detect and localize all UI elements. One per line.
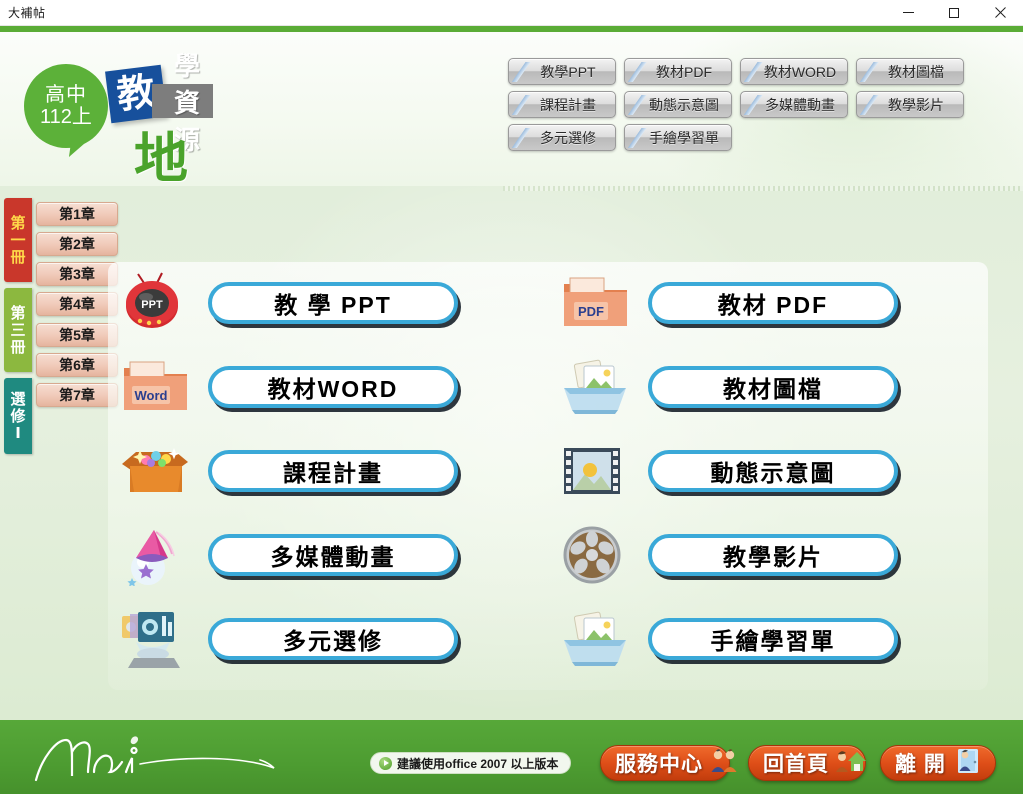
resource-pdf-button[interactable]: 教材 PDF: [648, 282, 898, 324]
page-title: 地理1: [134, 130, 190, 186]
house-icon: [835, 748, 867, 774]
grade-badge-line2: 112上: [40, 106, 92, 128]
house-icon: [835, 748, 867, 779]
film-reel-icon: [556, 524, 638, 586]
svg-text:PDF: PDF: [578, 304, 604, 319]
volume-tab-3[interactable]: 選修Ⅰ: [4, 378, 32, 454]
resource-multimedia-button[interactable]: 多媒體動畫: [208, 534, 458, 576]
resource-video-button[interactable]: 教學影片: [648, 534, 898, 576]
resource-images-label: 教材圖檔: [723, 370, 823, 404]
chapter-button-6[interactable]: 第6章: [36, 353, 118, 377]
resource-word-label: 教材WORD: [268, 370, 399, 404]
resource-images-item: 教材圖檔: [548, 356, 988, 420]
chapter-button-2[interactable]: 第2章: [36, 232, 118, 256]
window-titlebar: 大補帖: [0, 0, 1023, 26]
chip-label: 教材圖檔: [876, 62, 944, 82]
resource-syllabus-label: 課程計畫: [283, 454, 383, 488]
service-center-button[interactable]: 服務中心: [600, 745, 730, 781]
chapter-button-3[interactable]: 第3章: [36, 262, 118, 286]
magic-hat-icon: [116, 524, 198, 586]
chip-label: 教學PPT: [528, 62, 595, 82]
volume-tab-2[interactable]: 第三冊: [4, 288, 32, 372]
exit-button-label: 離 開: [895, 748, 946, 778]
nav-chip-syllabus[interactable]: 課程計畫: [508, 91, 616, 118]
close-button[interactable]: [977, 0, 1023, 26]
projector-icon: [116, 608, 198, 670]
photo-tray-icon: [556, 608, 638, 670]
office-note-text: 建議使用office 2007 以上版本: [397, 755, 558, 772]
home-button[interactable]: 回首頁: [748, 745, 866, 781]
nav-chip-worksheet[interactable]: 手繪學習單: [624, 124, 732, 151]
nav-chip-images[interactable]: 教材圖檔: [856, 58, 964, 85]
chip-label: 動態示意圖: [637, 95, 719, 115]
chip-label: 課程計畫: [528, 95, 596, 115]
resource-band: 學資源: [152, 84, 213, 118]
filmstrip-icon: [556, 440, 638, 502]
resource-ppt-button[interactable]: 教 學 PPT: [208, 282, 458, 324]
photo-tray-icon: [556, 356, 638, 418]
volume-tab-char: 修: [10, 408, 25, 425]
volume-tab-char: 冊: [10, 339, 25, 356]
chapter-button-7[interactable]: 第7章: [36, 383, 118, 407]
resource-elective-item: 多元選修: [108, 608, 548, 672]
nav-chip-elective[interactable]: 多元選修: [508, 124, 616, 151]
people-icon: [709, 748, 739, 779]
minimize-button[interactable]: [885, 0, 931, 26]
chip-label: 教材WORD: [752, 62, 836, 82]
resource-elective-label: 多元選修: [283, 622, 383, 656]
maximize-icon: [949, 8, 959, 18]
chip-label: 教學影片: [876, 95, 944, 115]
chip-label: 多媒體動畫: [753, 95, 835, 115]
nav-chip-multimedia[interactable]: 多媒體動畫: [740, 91, 848, 118]
film-reel-icon: [556, 524, 638, 586]
nav-chip-ppt[interactable]: 教學PPT: [508, 58, 616, 85]
photo-tray-icon: [556, 608, 638, 670]
resource-elective-button[interactable]: 多元選修: [208, 618, 458, 660]
minimize-icon: [903, 12, 914, 13]
resource-ppt-item: PPT 教 學 PPT: [108, 272, 548, 336]
svg-text:PPT: PPT: [141, 299, 163, 311]
folder-word-icon: Word: [116, 356, 198, 418]
resource-multimedia-label: 多媒體動畫: [271, 538, 396, 572]
projector-icon: [116, 608, 198, 670]
resource-panel: PPT 教 學 PPT PDF 教材 PDF Word 教材WORD: [108, 262, 988, 690]
nav-chip-word[interactable]: 教材WORD: [740, 58, 848, 85]
resource-pdf-item: PDF 教材 PDF: [548, 272, 988, 336]
magic-hat-icon: [116, 524, 198, 586]
filmstrip-icon: [556, 440, 638, 502]
resource-images-button[interactable]: 教材圖檔: [648, 366, 898, 408]
volume-tab-char: 第: [10, 215, 25, 232]
volume-tab-char: 三: [10, 322, 25, 339]
chapter-sidebar: 第一冊第三冊選修Ⅰ第1章第2章第3章第4章第5章第6章第7章: [4, 192, 124, 452]
window-controls: [885, 0, 1023, 26]
resource-worksheet-label: 手繪學習單: [711, 622, 836, 656]
tv-ppt-icon: PPT: [116, 272, 198, 334]
maximize-button[interactable]: [931, 0, 977, 26]
folder-pdf-icon: PDF: [556, 272, 638, 334]
volume-tab-char: 第: [10, 305, 25, 322]
resource-anim-diagram-item: 動態示意圖: [548, 440, 988, 504]
resource-anim-diagram-button[interactable]: 動態示意圖: [648, 450, 898, 492]
resource-anim-diagram-label: 動態示意圖: [711, 454, 836, 488]
resource-syllabus-button[interactable]: 課程計畫: [208, 450, 458, 492]
chip-label: 教材PDF: [644, 62, 712, 82]
people-icon: [709, 748, 739, 774]
resource-word-item: Word 教材WORD: [108, 356, 548, 420]
close-icon: [995, 7, 1006, 18]
nav-chip-video[interactable]: 教學影片: [856, 91, 964, 118]
resource-syllabus-item: 課程計畫: [108, 440, 548, 504]
nav-chip-animation-diagram[interactable]: 動態示意圖: [624, 91, 732, 118]
folder-word-icon: Word: [116, 356, 198, 418]
play-icon: [379, 757, 392, 770]
volume-tab-char: Ⅰ: [15, 425, 21, 442]
resource-video-item: 教學影片: [548, 524, 988, 588]
resource-worksheet-button[interactable]: 手繪學習單: [648, 618, 898, 660]
resource-word-button[interactable]: 教材WORD: [208, 366, 458, 408]
volume-tab-1[interactable]: 第一冊: [4, 198, 32, 282]
resource-worksheet-item: 手繪學習單: [548, 608, 988, 672]
service-center-button-label: 服務中心: [615, 748, 703, 778]
tv-ppt-icon: PPT: [116, 272, 198, 334]
resource-multimedia-item: 多媒體動畫: [108, 524, 548, 588]
volume-tab-char: 選: [10, 391, 25, 408]
home-button-label: 回首頁: [763, 748, 829, 778]
photo-tray-icon: [556, 356, 638, 418]
chapter-button-5[interactable]: 第5章: [36, 323, 118, 347]
chapter-button-4[interactable]: 第4章: [36, 292, 118, 316]
door-icon: [952, 748, 980, 774]
volume-tab-char: 冊: [10, 249, 25, 266]
resource-pdf-label: 教材 PDF: [718, 286, 828, 320]
svg-text:Word: Word: [135, 388, 168, 403]
chip-label: 手繪學習單: [637, 128, 719, 148]
grade-badge-line1: 高中: [45, 84, 87, 106]
chapter-button-1[interactable]: 第1章: [36, 202, 118, 226]
folder-pdf-icon: PDF: [556, 272, 638, 334]
exit-button[interactable]: 離 開: [880, 745, 996, 781]
treasure-box-icon: [116, 440, 198, 502]
top-nav-chips: 教學PPT教材PDF教材WORD教材圖檔課程計畫動態示意圖多媒體動畫教學影片多元…: [508, 58, 996, 151]
door-icon: [952, 748, 980, 779]
chip-label: 多元選修: [528, 128, 596, 148]
resource-video-label: 教學影片: [723, 538, 823, 572]
office-version-note: 建議使用office 2007 以上版本: [370, 752, 571, 774]
teaching-kanji: 教: [115, 73, 157, 115]
grade-badge: 高中 112上: [24, 64, 108, 148]
content-stage: 第一冊第三冊選修Ⅰ第1章第2章第3章第4章第5章第6章第7章 PPT 教 學 P…: [0, 186, 1023, 720]
treasure-box-icon: [116, 440, 198, 502]
resource-grid: PPT 教 學 PPT PDF 教材 PDF Word 教材WORD: [108, 272, 988, 672]
window-title: 大補帖: [8, 4, 46, 21]
resource-ppt-label: 教 學 PPT: [274, 286, 392, 320]
page-header: 高中 112上 教 學資源 地理1 教學PPT教材PDF教材WORD教材圖檔課程…: [0, 32, 1023, 186]
nav-chip-pdf[interactable]: 教材PDF: [624, 58, 732, 85]
nani-logo: [22, 728, 312, 786]
volume-tab-char: 一: [10, 232, 25, 249]
